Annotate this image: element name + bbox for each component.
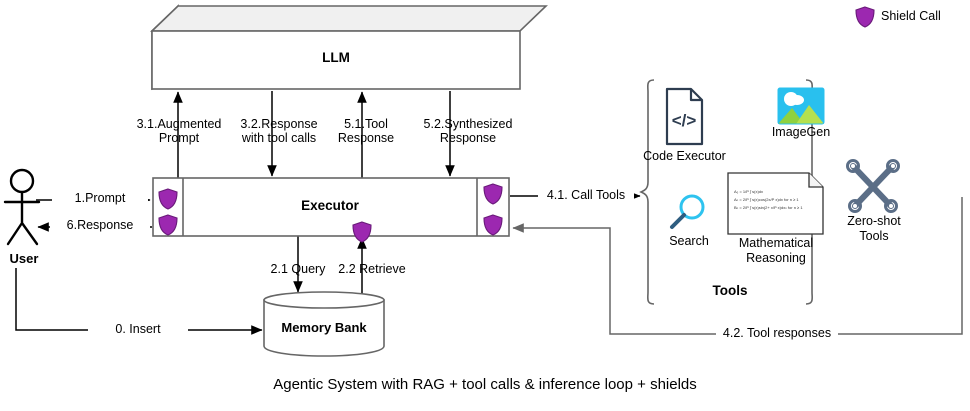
edge-label-tool-response: 5.1.Tool Response [330, 117, 402, 145]
memory-bank-label: Memory Bank [264, 321, 384, 335]
svg-text:</>: </> [672, 111, 697, 130]
magnifier-icon [667, 192, 711, 236]
math-formula-line-2: Aₙ = 2/P ∫ s(x)cos(2x/P x)dx for n ≥ 1 [734, 196, 820, 204]
shield-icon-retrieve[interactable] [352, 221, 372, 243]
user-body-icon [5, 193, 39, 244]
edge-label-response-tool-calls: 3.2.Response with tool calls [228, 117, 330, 145]
tool-label-search: Search [661, 234, 717, 249]
edge-label-query: 2.1 Query [262, 262, 334, 276]
edge-label-tool-responses: 4.2. Tool responses [716, 326, 838, 340]
edge-label-call-tools: 4.1. Call Tools [538, 188, 634, 202]
edge-label-augmented-prompt: 3.1.Augmented Prompt [133, 117, 225, 145]
tools-left-brace [641, 80, 654, 304]
edge-label-synthesized-response: 5.2.Synthesized Response [416, 117, 520, 145]
diagram-canvas: LLM 3.1.Au [0, 0, 970, 411]
edge-label-response: 6.Response [50, 218, 150, 232]
tool-code-executor[interactable]: </> Code Executor [655, 86, 713, 148]
memory-cylinder-top [264, 292, 384, 308]
tool-zero-shot[interactable]: Zero-shot Tools [845, 160, 903, 216]
memory-bank-node[interactable]: Memory Bank [262, 288, 386, 358]
math-formula-lines: A₀ = 1/P ∫ s(x)dx Aₙ = 2/P ∫ s(x)cos(2x/… [734, 188, 820, 212]
edge-insert [16, 268, 262, 330]
executor-label: Executor [183, 199, 477, 213]
shield-icon-tools-in[interactable] [483, 214, 503, 236]
edge-label-insert: 0. Insert [88, 322, 188, 336]
tool-label-imagegen: ImageGen [766, 125, 836, 140]
code-document-icon: </> [655, 86, 713, 148]
user-head-icon [11, 170, 33, 192]
user-label: User [0, 252, 50, 266]
legend-label: Shield Call [881, 9, 941, 23]
tool-math-reasoning[interactable]: A₀ = 1/P ∫ s(x)dx Aₙ = 2/P ∫ s(x)cos(2x/… [727, 172, 825, 236]
user-node[interactable]: User [0, 168, 52, 248]
tool-search[interactable]: Search [667, 192, 711, 236]
shield-icon-legend [855, 6, 875, 28]
crossed-wrenches-icon [845, 160, 903, 216]
tools-group-label: Tools [670, 284, 790, 298]
tool-label-code-executor: Code Executor [637, 149, 732, 164]
edge-label-retrieve: 2.2 Retrieve [332, 262, 412, 276]
executor-node[interactable]: Executor [152, 177, 510, 237]
shield-icon-executor-in[interactable] [158, 188, 178, 210]
shield-icon-executor-out[interactable] [158, 214, 178, 236]
math-formula-line-1: A₀ = 1/P ∫ s(x)dx [734, 188, 820, 196]
tool-imagegen[interactable]: ImageGen [778, 88, 824, 124]
tool-label-zero-shot: Zero-shot Tools [835, 214, 913, 244]
image-gen-icon [778, 88, 824, 124]
tool-label-math-reasoning: Mathematical Reasoning [719, 236, 833, 266]
math-formula-line-3: Bₙ = 2/P ∫ s(x)sin(2+ x/P x)dxₙ for n ≥ … [734, 204, 820, 212]
edge-label-prompt: 1.Prompt [52, 191, 148, 205]
shield-icon-tools-out[interactable] [483, 183, 503, 205]
diagram-caption: Agentic System with RAG + tool calls & i… [0, 376, 970, 393]
